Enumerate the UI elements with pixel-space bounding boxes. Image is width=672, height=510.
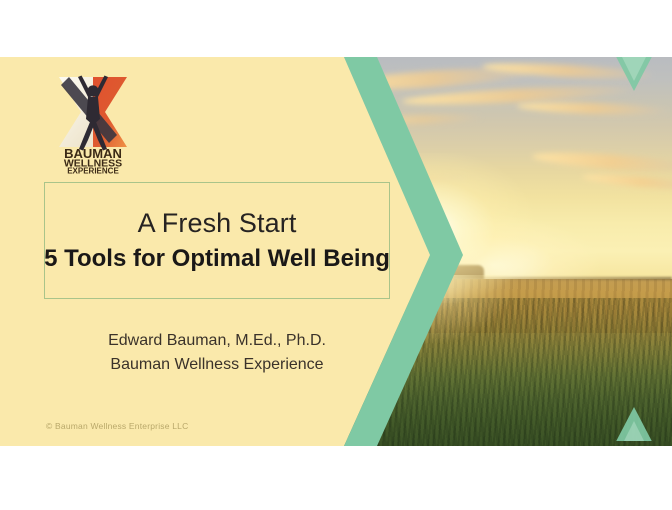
slide-title-main: A Fresh Start [138, 209, 297, 239]
copyright-notice: © Bauman Wellness Enterprise LLC [46, 421, 188, 431]
presenter-name: Edward Bauman, M.Ed., Ph.D. [44, 329, 390, 353]
presenter-block: Edward Bauman, M.Ed., Ph.D. Bauman Welln… [44, 329, 390, 377]
presenter-organization: Bauman Wellness Experience [44, 353, 390, 377]
cloud-icon [532, 149, 672, 174]
cloud-icon [517, 100, 667, 116]
cloud-icon [362, 113, 482, 126]
logo-line-3: EXPERIENCE [67, 167, 119, 176]
screenshot-canvas: BAUMAN WELLNESS EXPERIENCE A Fresh Start… [0, 0, 672, 510]
cloud-icon [582, 172, 672, 192]
slide-title-box: A Fresh Start 5 Tools for Optimal Well B… [44, 182, 390, 299]
slide-title-subtitle: 5 Tools for Optimal Well Being [44, 245, 390, 273]
presentation-slide: BAUMAN WELLNESS EXPERIENCE A Fresh Start… [0, 57, 672, 446]
bauman-wellness-logo: BAUMAN WELLNESS EXPERIENCE [47, 65, 139, 175]
